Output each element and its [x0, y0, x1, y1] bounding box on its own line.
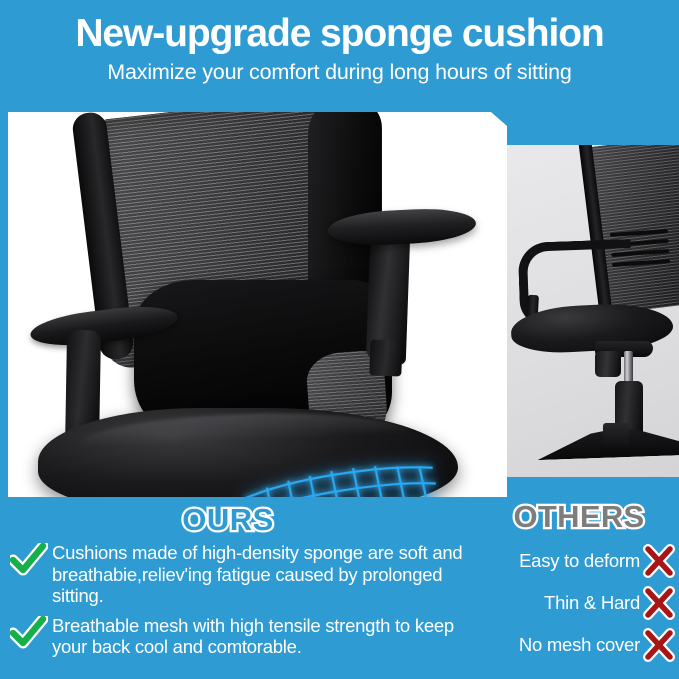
others-drawback-list: Easy to deform Thin & Hard No mesh cover — [478, 540, 676, 666]
chair-armrest-right-post — [366, 231, 411, 364]
check-icon — [10, 616, 48, 650]
list-item: No mesh cover — [478, 624, 676, 666]
list-item: Breathable mesh with high tensile streng… — [10, 615, 472, 658]
ours-feature-list: Cushions made of high-density sponge are… — [10, 542, 472, 666]
list-item: Thin & Hard — [478, 582, 676, 624]
others-drawback-text: Easy to deform — [519, 550, 640, 572]
inset-product-photo — [507, 145, 679, 477]
check-icon — [10, 543, 48, 577]
inset-chair-gas-cylinder — [624, 351, 633, 383]
ours-heading: OURS — [118, 503, 338, 537]
ours-feature-text: Cushions made of high-density sponge are… — [52, 542, 472, 607]
x-icon — [642, 586, 676, 620]
chair-illustration-inset — [507, 145, 679, 477]
header: New-upgrade sponge cushion Maximize your… — [0, 0, 679, 108]
chair-illustration-main — [8, 112, 507, 497]
list-item: Cushions made of high-density sponge are… — [10, 542, 472, 607]
page-title: New-upgrade sponge cushion — [0, 12, 679, 56]
others-heading: OTHERS — [486, 500, 672, 534]
inset-chair-tension-knob — [595, 351, 621, 377]
page-subtitle: Maximize your comfort during long hours … — [0, 58, 679, 86]
x-icon — [642, 544, 676, 578]
list-item: Easy to deform — [478, 540, 676, 582]
product-infographic: New-upgrade sponge cushion Maximize your… — [0, 0, 679, 679]
inset-chair-base-hub — [603, 423, 629, 453]
ours-feature-text: Breathable mesh with high tensile streng… — [52, 615, 472, 658]
others-drawback-text: No mesh cover — [519, 634, 640, 656]
x-icon — [642, 628, 676, 662]
others-drawback-text: Thin & Hard — [544, 592, 640, 614]
main-product-photo — [8, 112, 507, 497]
